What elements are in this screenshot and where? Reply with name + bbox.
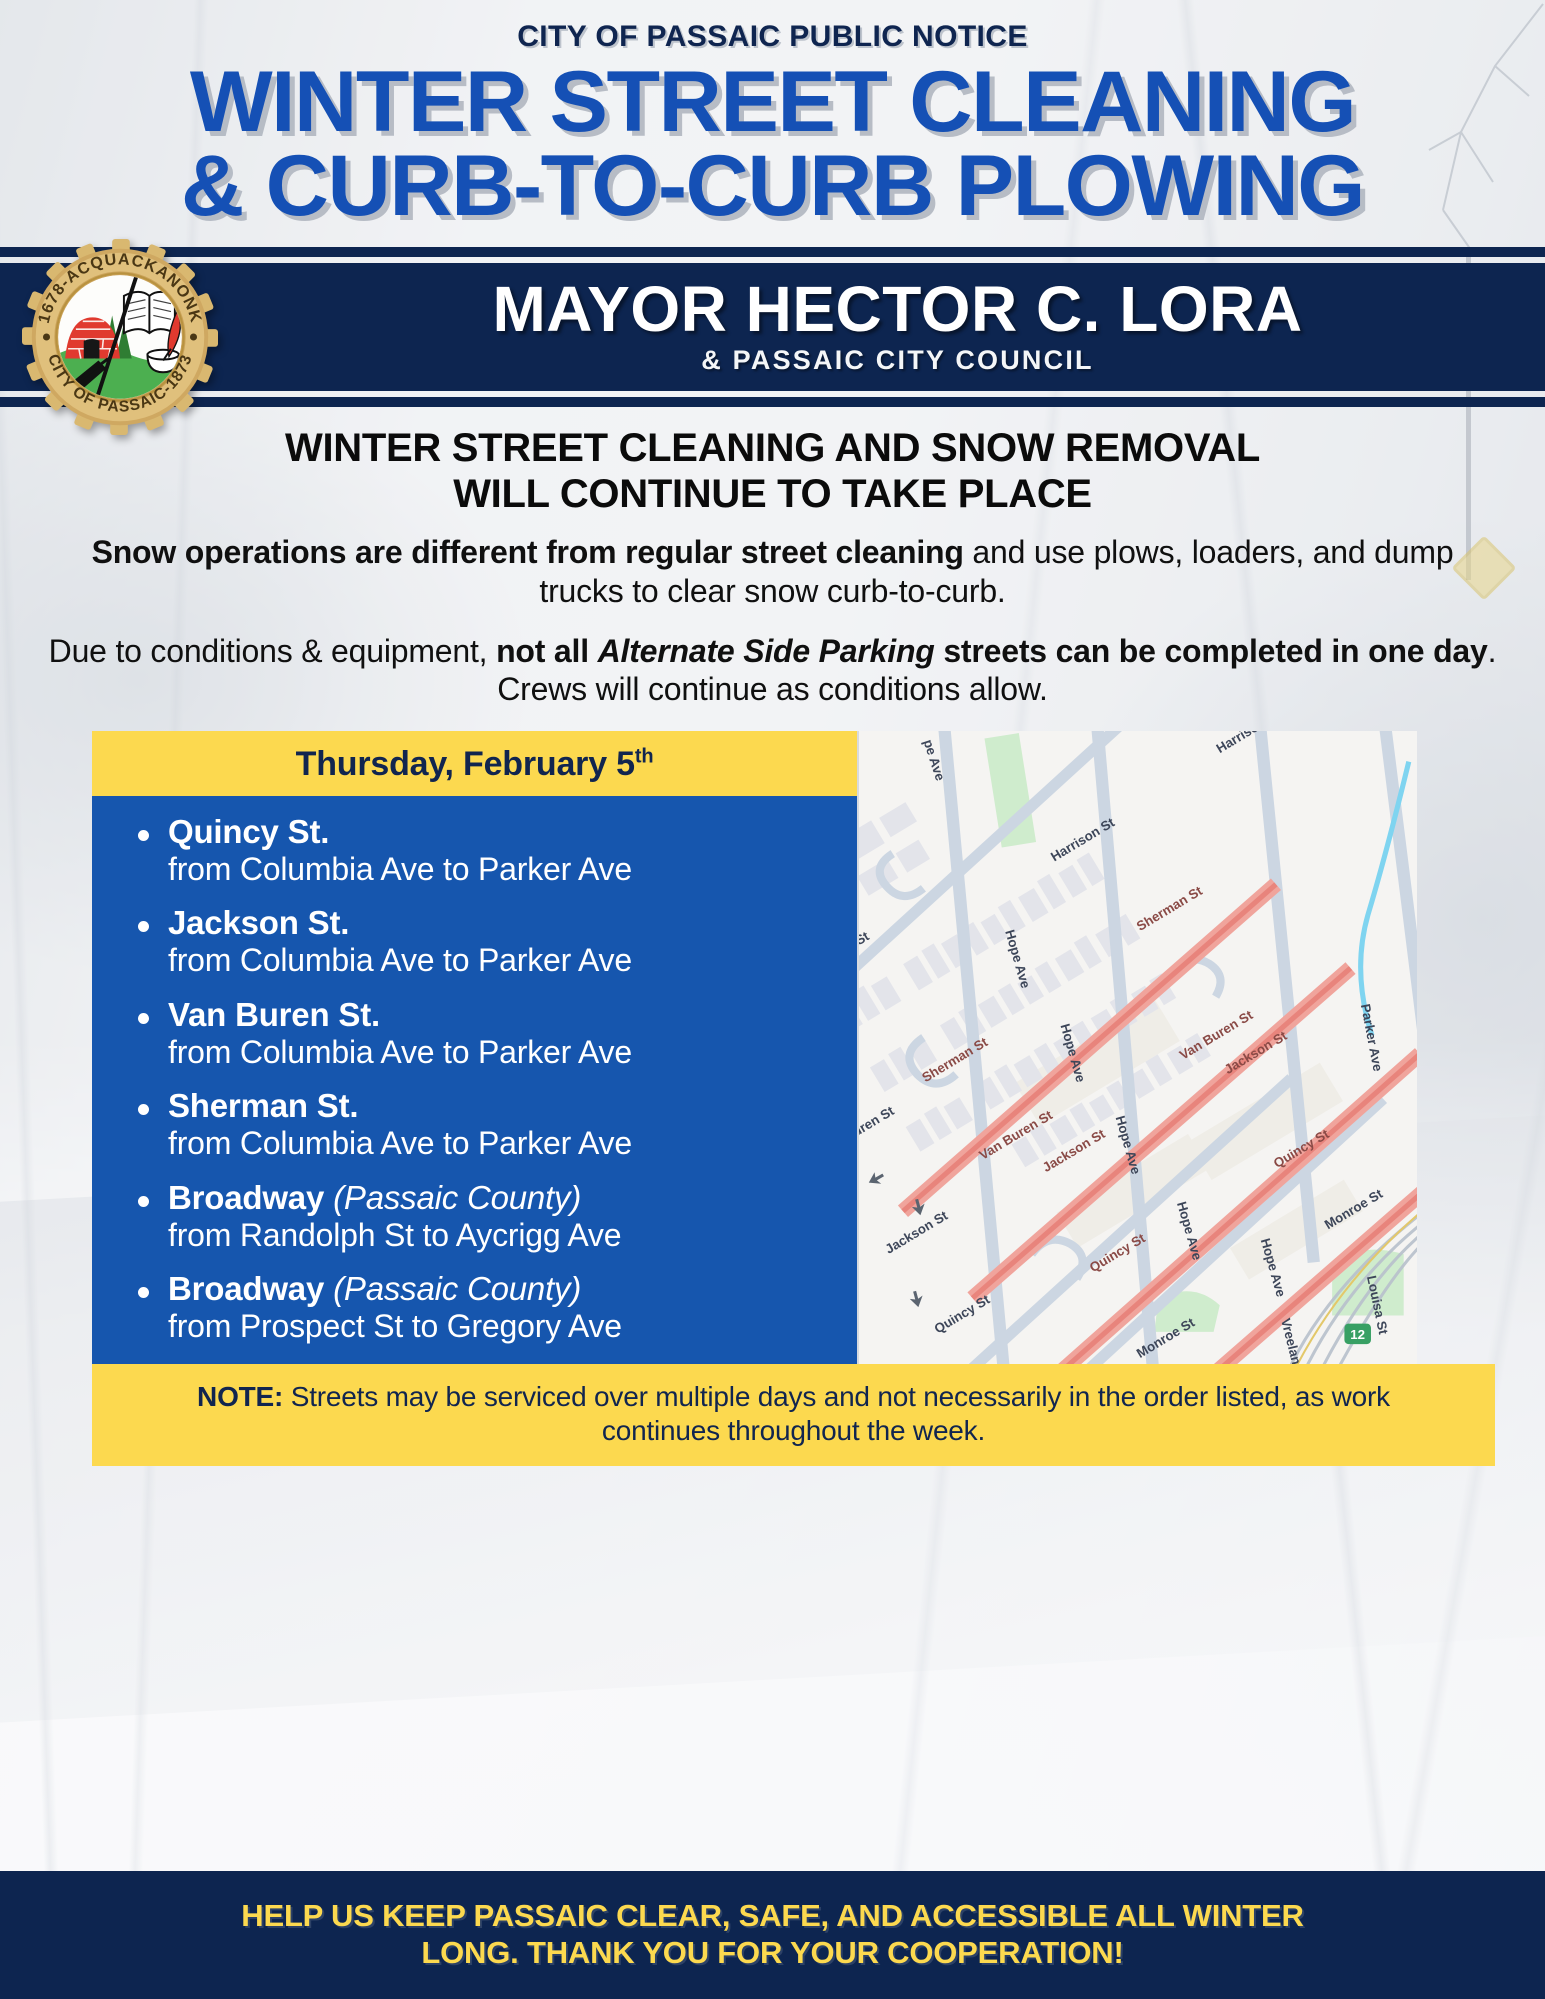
street-map[interactable]: 12 pe Ave Harrison St Harrison St on St … [857,731,1417,1365]
svg-text:12: 12 [1350,1327,1365,1342]
list-item: Quincy St. from Columbia Ave to Parker A… [126,814,843,905]
mayor-name: MAYOR HECTOR C. LORA [492,277,1302,341]
subheading-line1: WINTER STREET CLEANING AND SNOW REMOVAL [46,425,1499,471]
street-segment: from Randolph St to Aycrigg Ave [168,1217,843,1253]
street-name-text: Sherman St. [168,1087,358,1124]
paragraph-snow-operations: Snow operations are different from regul… [46,533,1499,610]
street-segment: from Columbia Ave to Parker Ave [168,1125,843,1161]
bullet-icon [138,1013,149,1024]
street-county: (Passaic County) [333,1179,581,1216]
page-title-line2: & CURB-TO-CURB PLOWING [0,144,1545,228]
paragraph-alternate-side-parking: Due to conditions & equipment, not all A… [46,632,1499,709]
bullet-icon [138,1104,149,1115]
city-of-passaic-seal-icon: 1678-ACQUACKANONK CITY OF PASSAIC-1873 [22,239,218,435]
list-item: Van Buren St. from Columbia Ave to Parke… [126,997,843,1088]
note-banner: NOTE: Streets may be serviced over multi… [92,1364,1495,1465]
street-segment: from Columbia Ave to Parker Ave [168,851,843,887]
poster-header: CITY OF PASSAIC PUBLIC NOTICE WINTER STR… [0,0,1545,229]
street-name-text: Jackson St. [168,904,349,941]
footer-banner: HELP US KEEP PASSAIC CLEAR, SAFE, AND AC… [0,1871,1545,1999]
street-segment: from Columbia Ave to Parker Ave [168,942,843,978]
page-title: WINTER STREET CLEANING & CURB-TO-CURB PL… [0,60,1545,229]
note-label: NOTE: [197,1381,283,1412]
bullet-icon [138,1287,149,1298]
street-county: (Passaic County) [333,1270,581,1307]
para1-bold: Snow operations are different from regul… [92,534,964,570]
schedule-list-column: Thursday, February 5th Quincy St. from C… [92,731,857,1365]
street-name: Broadway (Passaic County) [168,1271,843,1308]
page-title-line1: WINTER STREET CLEANING [190,54,1355,150]
street-map-svg[interactable]: 12 pe Ave Harrison St Harrison St on St … [859,731,1417,1365]
schedule-panel: Thursday, February 5th Quincy St. from C… [92,731,1505,1365]
banner-top-rule [0,247,1545,257]
footer-line1: HELP US KEEP PASSAIC CLEAR, SAFE, AND AC… [60,1897,1485,1934]
schedule-list-box: Quincy St. from Columbia Ave to Parker A… [92,796,857,1365]
list-item: Jackson St. from Columbia Ave to Parker … [126,905,843,996]
city-council-label: & PASSAIC CITY COUNCIL [701,345,1093,376]
route-shield-12-icon: 12 [1344,1324,1371,1344]
notice-body: WINTER STREET CLEANING AND SNOW REMOVAL … [0,407,1545,709]
street-list: Quincy St. from Columbia Ave to Parker A… [92,814,857,1349]
banner-bottom-rule [0,397,1545,407]
street-name-text: Broadway [168,1270,324,1307]
street-name: Van Buren St. [168,997,843,1034]
street-segment: from Prospect St to Gregory Ave [168,1308,843,1344]
schedule-date-suffix: th [635,746,653,768]
bullet-icon [138,1196,149,1207]
bullet-icon [138,830,149,841]
street-name-text: Broadway [168,1179,324,1216]
para2-d: streets can be completed in one day [935,633,1488,669]
street-name: Sherman St. [168,1088,843,1125]
street-name: Jackson St. [168,905,843,942]
footer-line2: LONG. THANK YOU FOR YOUR COOPERATION! [60,1934,1485,1971]
mayor-banner: 1678-ACQUACKANONK CITY OF PASSAIC-1873 M… [0,247,1545,407]
street-name: Broadway (Passaic County) [168,1180,843,1217]
para2-c: Alternate Side Parking [598,633,935,669]
list-item: Broadway (Passaic County) from Prospect … [126,1271,843,1348]
note-text: Streets may be serviced over multiple da… [283,1381,1390,1446]
para2-a: Due to conditions & equipment, [49,633,496,669]
subheading-line2: WILL CONTINUE TO TAKE PLACE [46,471,1499,517]
list-item: Broadway (Passaic County) from Randolph … [126,1180,843,1271]
street-name: Quincy St. [168,814,843,851]
eyebrow-text: CITY OF PASSAIC PUBLIC NOTICE [0,20,1545,54]
para2-b: not all [496,633,598,669]
street-segment: from Columbia Ave to Parker Ave [168,1034,843,1070]
schedule-date-header: Thursday, February 5th [92,731,857,796]
list-item: Sherman St. from Columbia Ave to Parker … [126,1088,843,1179]
bullet-icon [138,921,149,932]
notice-subheading: WINTER STREET CLEANING AND SNOW REMOVAL … [46,425,1499,518]
street-name-text: Quincy St. [168,813,329,850]
schedule-date-label: Thursday, February 5 [296,745,635,783]
street-name-text: Van Buren St. [168,996,380,1033]
